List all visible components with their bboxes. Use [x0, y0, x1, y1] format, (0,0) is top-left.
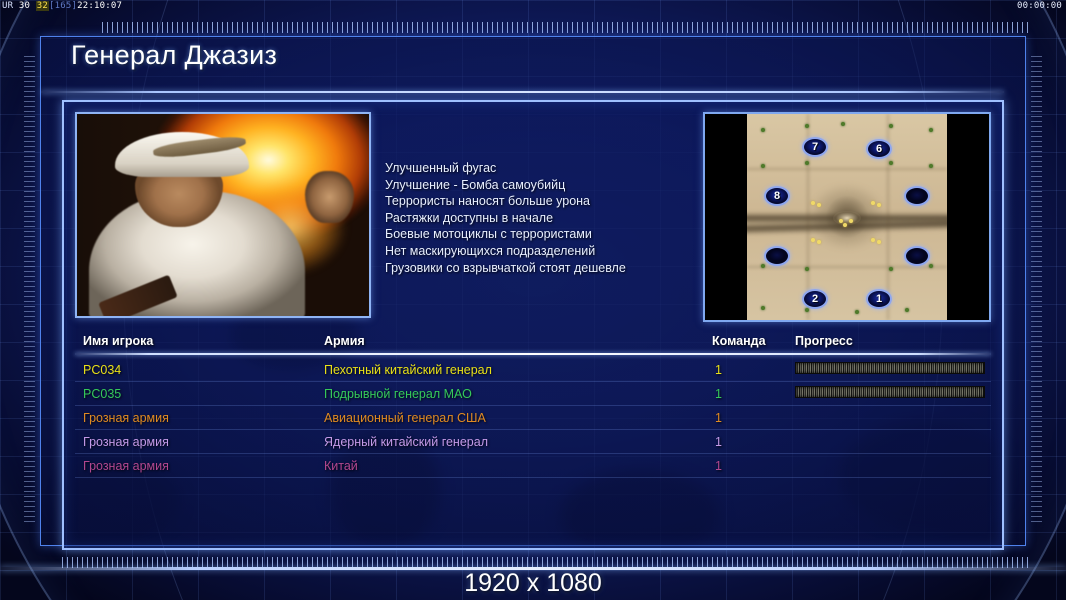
- description-line: Улучшенный фугас: [385, 160, 685, 177]
- map-resource: [871, 238, 875, 242]
- table-row[interactable]: PC034Пехотный китайский генерал1: [75, 358, 991, 382]
- player-army: Подрывной генерал МАО: [324, 385, 472, 403]
- portrait-hand: [305, 171, 355, 224]
- map-tree: [855, 310, 859, 314]
- minimap-terrain: 76821: [747, 114, 947, 320]
- player-table-header: Имя игрока Армия Команда Прогресс: [75, 334, 991, 354]
- map-center-clearing: [833, 211, 861, 225]
- player-army: Авиационный генерал США: [324, 409, 486, 427]
- topbar-right-time: 00:00:00: [1017, 0, 1062, 13]
- description-line: Грузовики со взрывчаткой стоят дешевле: [385, 260, 685, 277]
- topbar-left-group: UR 30 32[165]22:10:07: [2, 0, 122, 13]
- player-name: Грозная армия: [83, 409, 169, 427]
- map-start-position: [904, 186, 930, 206]
- column-header-team: Команда: [712, 334, 766, 348]
- topbar-value-2: 32: [36, 1, 49, 11]
- player-name: PC035: [83, 385, 121, 403]
- column-header-progress: Прогресс: [795, 334, 853, 348]
- player-table-body: PC034Пехотный китайский генерал1PC035Под…: [75, 358, 991, 536]
- map-tree: [761, 128, 765, 132]
- player-team: 1: [715, 385, 722, 403]
- map-seam-h: [747, 266, 947, 268]
- map-resource: [877, 240, 881, 244]
- title-bar: Генерал Джазиз: [41, 36, 1004, 89]
- map-resource: [811, 201, 815, 205]
- table-row[interactable]: PC035Подрывной генерал МАО1: [75, 382, 991, 406]
- topbar-bracket-value: 165: [55, 1, 72, 11]
- player-team: 1: [715, 433, 722, 451]
- map-resource: [817, 240, 821, 244]
- page-title: Генерал Джазиз: [71, 40, 277, 71]
- topbar-label: UR: [2, 1, 13, 11]
- table-row[interactable]: Грозная армияКитай1: [75, 454, 991, 478]
- map-tree: [889, 124, 893, 128]
- player-team: 1: [715, 409, 722, 427]
- player-army: Пехотный китайский генерал: [324, 361, 492, 379]
- minimap-preview[interactable]: 76821: [703, 112, 991, 322]
- player-army: Китай: [324, 457, 358, 475]
- player-team: 1: [715, 457, 722, 475]
- table-row[interactable]: Грозная армияЯдерный китайский генерал1: [75, 430, 991, 454]
- player-team: 1: [715, 361, 722, 379]
- map-start-position-6: 6: [866, 139, 892, 159]
- map-resource: [871, 201, 875, 205]
- column-header-army: Армия: [324, 334, 365, 348]
- general-portrait: [75, 112, 371, 318]
- map-start-position-7: 7: [802, 137, 828, 157]
- map-tree: [761, 306, 765, 310]
- top-status-bar: UR 30 32[165]22:10:07 00:00:00: [0, 0, 1066, 13]
- map-tree: [805, 267, 809, 271]
- progress-bar: [795, 362, 985, 374]
- map-resource: [811, 238, 815, 242]
- title-divider: [41, 91, 1004, 93]
- player-name: PC034: [83, 361, 121, 379]
- player-progress: [795, 386, 985, 398]
- progress-bar: [795, 386, 985, 398]
- description-line: Нет маскирующихся подразделений: [385, 243, 685, 260]
- table-row[interactable]: Грозная армияАвиационный генерал США1: [75, 406, 991, 430]
- player-name: Грозная армия: [83, 433, 169, 451]
- table-header-divider: [75, 353, 991, 355]
- map-start-position: [904, 246, 930, 266]
- general-description-list: Улучшенный фугас Улучшение - Бомба самоу…: [385, 160, 685, 276]
- map-tree: [889, 267, 893, 271]
- map-seam-h: [747, 168, 947, 170]
- map-resource: [877, 203, 881, 207]
- ruler-right: [1031, 56, 1042, 526]
- player-army: Ядерный китайский генерал: [324, 433, 488, 451]
- description-line: Растяжки доступны в начале: [385, 210, 685, 227]
- map-start-position-2: 2: [802, 289, 828, 309]
- topbar-time: 22:10:07: [77, 1, 122, 11]
- player-progress: [795, 362, 985, 374]
- player-name: Грозная армия: [83, 457, 169, 475]
- info-row: Улучшенный фугас Улучшение - Бомба самоу…: [75, 112, 991, 324]
- map-start-position-8: 8: [764, 186, 790, 206]
- topbar-value-1: 30: [19, 1, 30, 11]
- map-tree: [929, 164, 933, 168]
- content-panel: Улучшенный фугас Улучшение - Бомба самоу…: [62, 100, 1004, 550]
- map-tree: [889, 161, 893, 165]
- description-line: Террористы наносят больше урона: [385, 193, 685, 210]
- map-start-position: [764, 246, 790, 266]
- description-line: Боевые мотоциклы с террористами: [385, 226, 685, 243]
- map-tree: [841, 122, 845, 126]
- description-line: Улучшение - Бомба самоубийц: [385, 177, 685, 194]
- map-tree: [805, 308, 809, 312]
- resolution-label: 1920 x 1080: [0, 566, 1066, 600]
- column-header-player-name: Имя игрока: [83, 334, 153, 348]
- map-resource: [817, 203, 821, 207]
- ruler-top: [102, 22, 1032, 33]
- ruler-left: [24, 56, 35, 526]
- map-tree: [905, 308, 909, 312]
- map-tree: [929, 128, 933, 132]
- map-tree: [761, 164, 765, 168]
